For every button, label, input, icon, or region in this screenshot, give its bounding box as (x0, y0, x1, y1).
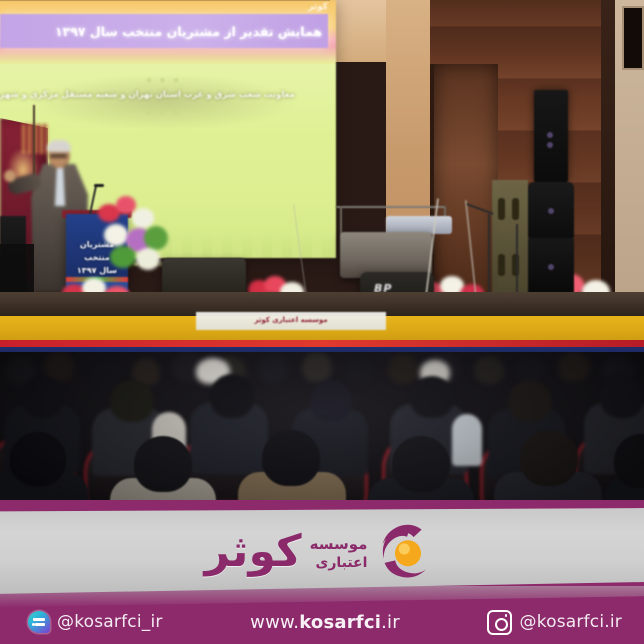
pa-rack-panel (492, 180, 528, 296)
flower-bouquet-podium (92, 192, 172, 272)
audience-vignette (0, 352, 644, 524)
pa-speaker-tall (534, 90, 568, 182)
website-url-name: kosarfci (299, 612, 381, 633)
stage-left-shadow (0, 244, 34, 298)
brand-wordmark: کوثر (205, 530, 302, 574)
speaker-hair (47, 140, 71, 152)
bale-handle-text: @kosarfci_ir (57, 612, 163, 632)
podium-microphone-head (94, 184, 104, 187)
kosar-swoosh-logo-icon (377, 521, 439, 583)
equipment-crossbar (336, 206, 446, 208)
footer-website-link[interactable]: www.kosarfci.ir (241, 612, 410, 633)
wall-panel-upper (330, 0, 390, 62)
screen-title-bar: همایش تقدیر از مشتریان منتخب سال ۱۳۹۷ (0, 14, 328, 48)
footer-links-row: @kosarfci_ir www.kosarfci.ir @kosarfci.i… (0, 600, 644, 644)
website-url-prefix: www. (250, 612, 299, 633)
brand-footer: کوثر موسسه اعتباری (0, 500, 644, 644)
brand-lockup: کوثر موسسه اعتباری (0, 514, 644, 590)
screen-title: همایش تقدیر از مشتریان منتخب سال ۱۳۹۷ (55, 24, 328, 39)
bale-messenger-icon[interactable] (28, 611, 50, 633)
brand-name-main: کوثر (205, 530, 302, 574)
footer-bale-link[interactable]: @kosarfci_ir (0, 611, 241, 633)
brand-name-line1: موسسه (310, 535, 368, 553)
speaker-hand (4, 170, 16, 182)
website-url-text: www.kosarfci.ir (250, 612, 400, 633)
screen-ornament-dots-top: ◆ ◆ ◆ (0, 76, 336, 84)
event-photo-card: ◆ ◆ ◆ معاونت شعب شرق و غرب استان تهران و… (0, 0, 644, 644)
pa-speaker-mid (528, 182, 574, 238)
instagram-handle-text: @kosarfci.ir (520, 612, 622, 632)
screen-header-band: همایش تقدیر از مشتریان منتخب سال ۱۳۹۷ کو… (0, 0, 336, 64)
audience-area (0, 352, 644, 524)
speaker-face (50, 150, 67, 167)
wall-frame (622, 6, 644, 70)
conference-photo: ◆ ◆ ◆ معاونت شعب شرق و غرب استان تهران و… (0, 0, 644, 524)
screen-subtitle: معاونت شعب شرق و غرب استان تهران و شعبه … (33, 90, 294, 100)
pa-speaker-low (528, 238, 574, 294)
brand-name-line2: اعتباری (315, 555, 367, 571)
stage-front-banner-text: موسسه اعتباری کوثر (196, 316, 386, 324)
mic-stand-one (488, 214, 490, 298)
screen-corner-logo: کوثر (308, 2, 328, 12)
stage-red-stripe (0, 340, 644, 347)
brand-subtitle-stack: موسسه اعتباری (310, 533, 368, 571)
website-url-tld: .ir (381, 612, 400, 633)
speaker-glasses (50, 154, 67, 158)
mic-stand-two (516, 224, 518, 298)
footer-instagram-link[interactable]: @kosarfci.ir (409, 610, 644, 635)
instagram-icon[interactable] (487, 610, 512, 635)
screen-ornament-dots-bottom: ◆ ◆ ◆ (0, 108, 336, 116)
